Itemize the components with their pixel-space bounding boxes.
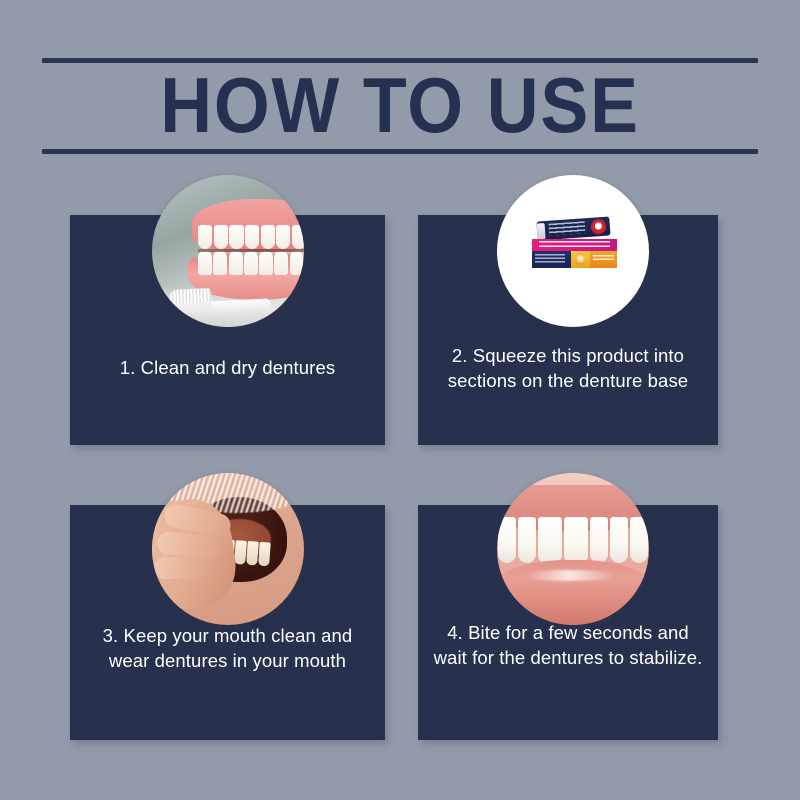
step-caption-4: 4. Bite for a few seconds and wait for t… (432, 620, 704, 670)
header: HOW TO USE (42, 58, 758, 154)
step-caption-2: 2. Squeeze this product into sections on… (432, 343, 704, 393)
step-caption-3: 3. Keep your mouth clean and wear dentur… (84, 623, 371, 673)
photo2-box-orange-panel (590, 251, 617, 268)
photo1-upper-teeth (198, 225, 304, 249)
page-title: HOW TO USE (71, 61, 730, 149)
photo3-finger-3 (154, 557, 209, 580)
photo2-box-blue-panel (532, 251, 571, 268)
step-image-2-product (497, 175, 649, 327)
photo2-box-headline-band (532, 239, 617, 251)
photo2-box-lower-panels (532, 251, 617, 268)
title-rule-bottom (42, 149, 758, 154)
photo1-lower-teeth (198, 251, 304, 275)
photo2-box-headline-text (539, 241, 610, 249)
photo2-product-package (532, 219, 617, 268)
photo1-bite-line (198, 249, 304, 252)
photo2-tube-cap (537, 223, 546, 240)
photo2-box-seal-icon (571, 251, 590, 268)
photo4-teeth (497, 517, 649, 563)
step-caption-1: 1. Clean and dry dentures (84, 355, 371, 380)
step-image-3-inserting-denture (152, 473, 304, 625)
photo1-toothbrush-bristles (170, 288, 212, 304)
how-to-use-poster: HOW TO USE 1. Clean and dry dentures 2. … (0, 0, 800, 800)
photo4-lip-highlight (524, 570, 615, 581)
step-image-1-denture-model (152, 175, 304, 327)
photo2-adhesive-tube (536, 217, 610, 241)
photo2-tube-badge (591, 219, 607, 236)
photo2-tube-label-text (548, 221, 585, 235)
step-image-4-smile (497, 473, 649, 625)
